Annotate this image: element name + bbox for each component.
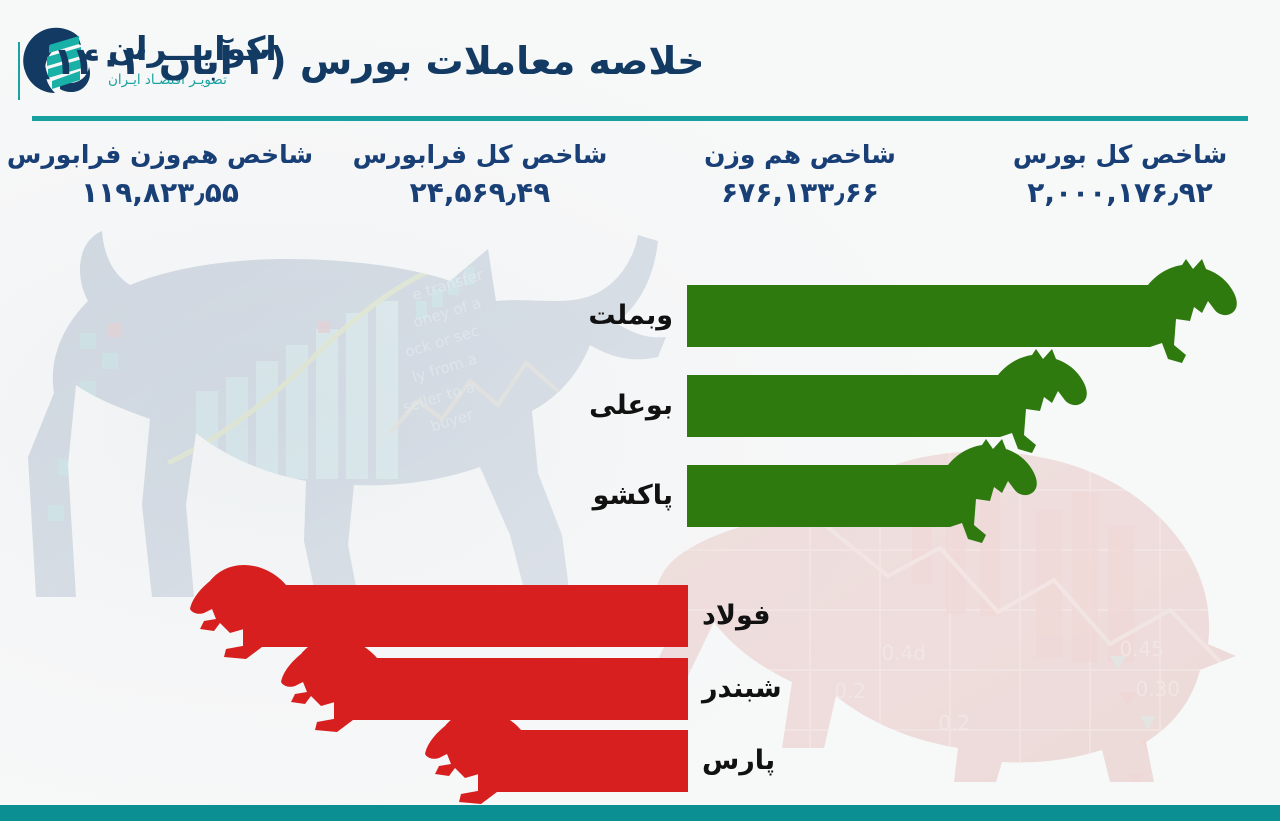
stat-total-index: شاخص کل بورس ۲,۰۰۰,۱۷۶٫۹۲ (960, 140, 1280, 236)
index-stats-row: شاخص کل بورس ۲,۰۰۰,۱۷۶٫۹۲ شاخص هم وزن ۶۷… (0, 140, 1280, 236)
stat-equal-weight-index: شاخص هم وزن ۶۷۶,۱۳۳٫۶۶ (640, 140, 960, 236)
bar-label: فولاد (702, 585, 771, 647)
header-divider (32, 116, 1248, 121)
bar-graphic[interactable] (687, 285, 1125, 347)
infographic-canvas: rket is a e transfer oney of a ock or se… (0, 0, 1280, 821)
header: اکوایـــران تصویـر اقتصـاد ایـران خلاصه … (0, 0, 1280, 118)
bar-label: شبندر (702, 658, 782, 720)
bear-icon (425, 704, 575, 816)
bar-graphic[interactable] (190, 585, 688, 647)
bar-label: وبملت (588, 285, 673, 347)
footer-bar (0, 805, 1280, 821)
stat-value: ۶۷۶,۱۳۳٫۶۶ (721, 176, 879, 209)
stat-label: شاخص کل بورس (1013, 140, 1227, 170)
bar-graphic[interactable] (687, 465, 925, 527)
bar-row-gainer: پاکشو (0, 465, 1280, 555)
bull-icon (1090, 259, 1240, 371)
bar-label: پارس (702, 730, 775, 792)
bar-graphic[interactable] (425, 730, 688, 792)
stat-farabourse-index: شاخص کل فرابورس ۲۴,۵۶۹٫۴۹ (320, 140, 640, 236)
bar-label: بوعلی (589, 375, 673, 437)
bull-icon (890, 439, 1040, 551)
bar-fill (687, 285, 1125, 347)
stat-value: ۲,۰۰۰,۱۷۶٫۹۲ (1027, 176, 1213, 209)
bar-graphic[interactable] (687, 375, 975, 437)
bar-row-gainer: بوعلی (0, 375, 1280, 465)
symbols-bar-chart: وبملت بوعلی پاکشو (0, 250, 1280, 790)
stat-label: شاخص کل فرابورس (353, 140, 608, 170)
bar-fill (687, 375, 975, 437)
stat-label: شاخص هم‌وزن فرابورس (7, 140, 313, 170)
page-title: خلاصه معاملات بورس (۲ آبان ۱۴۰۲) (20, 30, 720, 92)
stat-value: ۱۱۹,۸۲۳٫۵۵ (81, 176, 239, 209)
bear-icon (281, 632, 431, 744)
stat-label: شاخص هم وزن (704, 140, 896, 170)
stat-value: ۲۴,۵۶۹٫۴۹ (410, 176, 551, 209)
stat-farabourse-equal-weight-index: شاخص هم‌وزن فرابورس ۱۱۹,۸۲۳٫۵۵ (0, 140, 320, 236)
bar-label: پاکشو (593, 465, 673, 527)
